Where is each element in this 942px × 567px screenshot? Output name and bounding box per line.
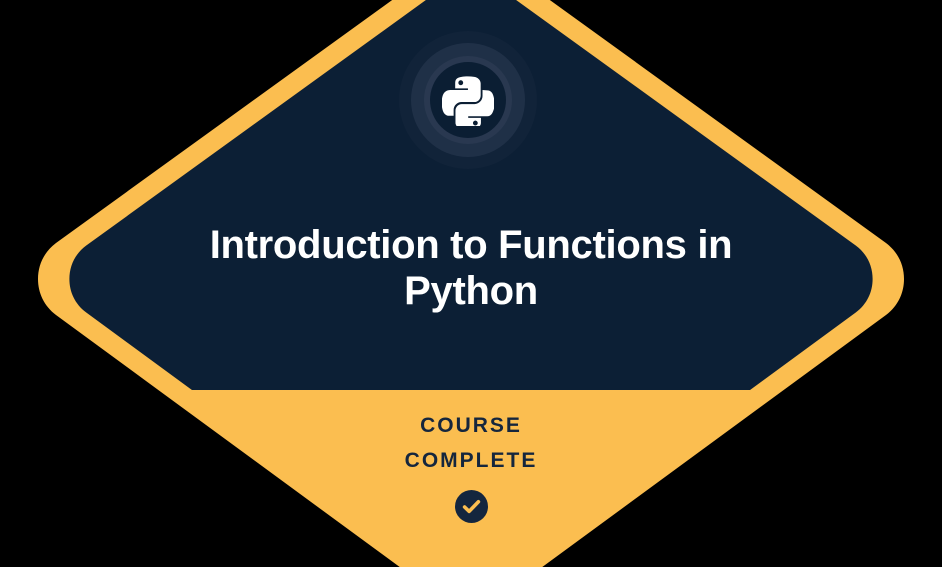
check-circle-icon xyxy=(455,490,488,523)
status-label: COURSE COMPLETE xyxy=(171,408,771,478)
completion-status-block: COURSE COMPLETE xyxy=(171,408,771,523)
badge-canvas: Introduction to Functions in Python COUR… xyxy=(0,0,942,567)
python-logo-icon xyxy=(442,74,494,126)
python-emblem xyxy=(398,30,538,170)
course-title: Introduction to Functions in Python xyxy=(171,222,771,314)
